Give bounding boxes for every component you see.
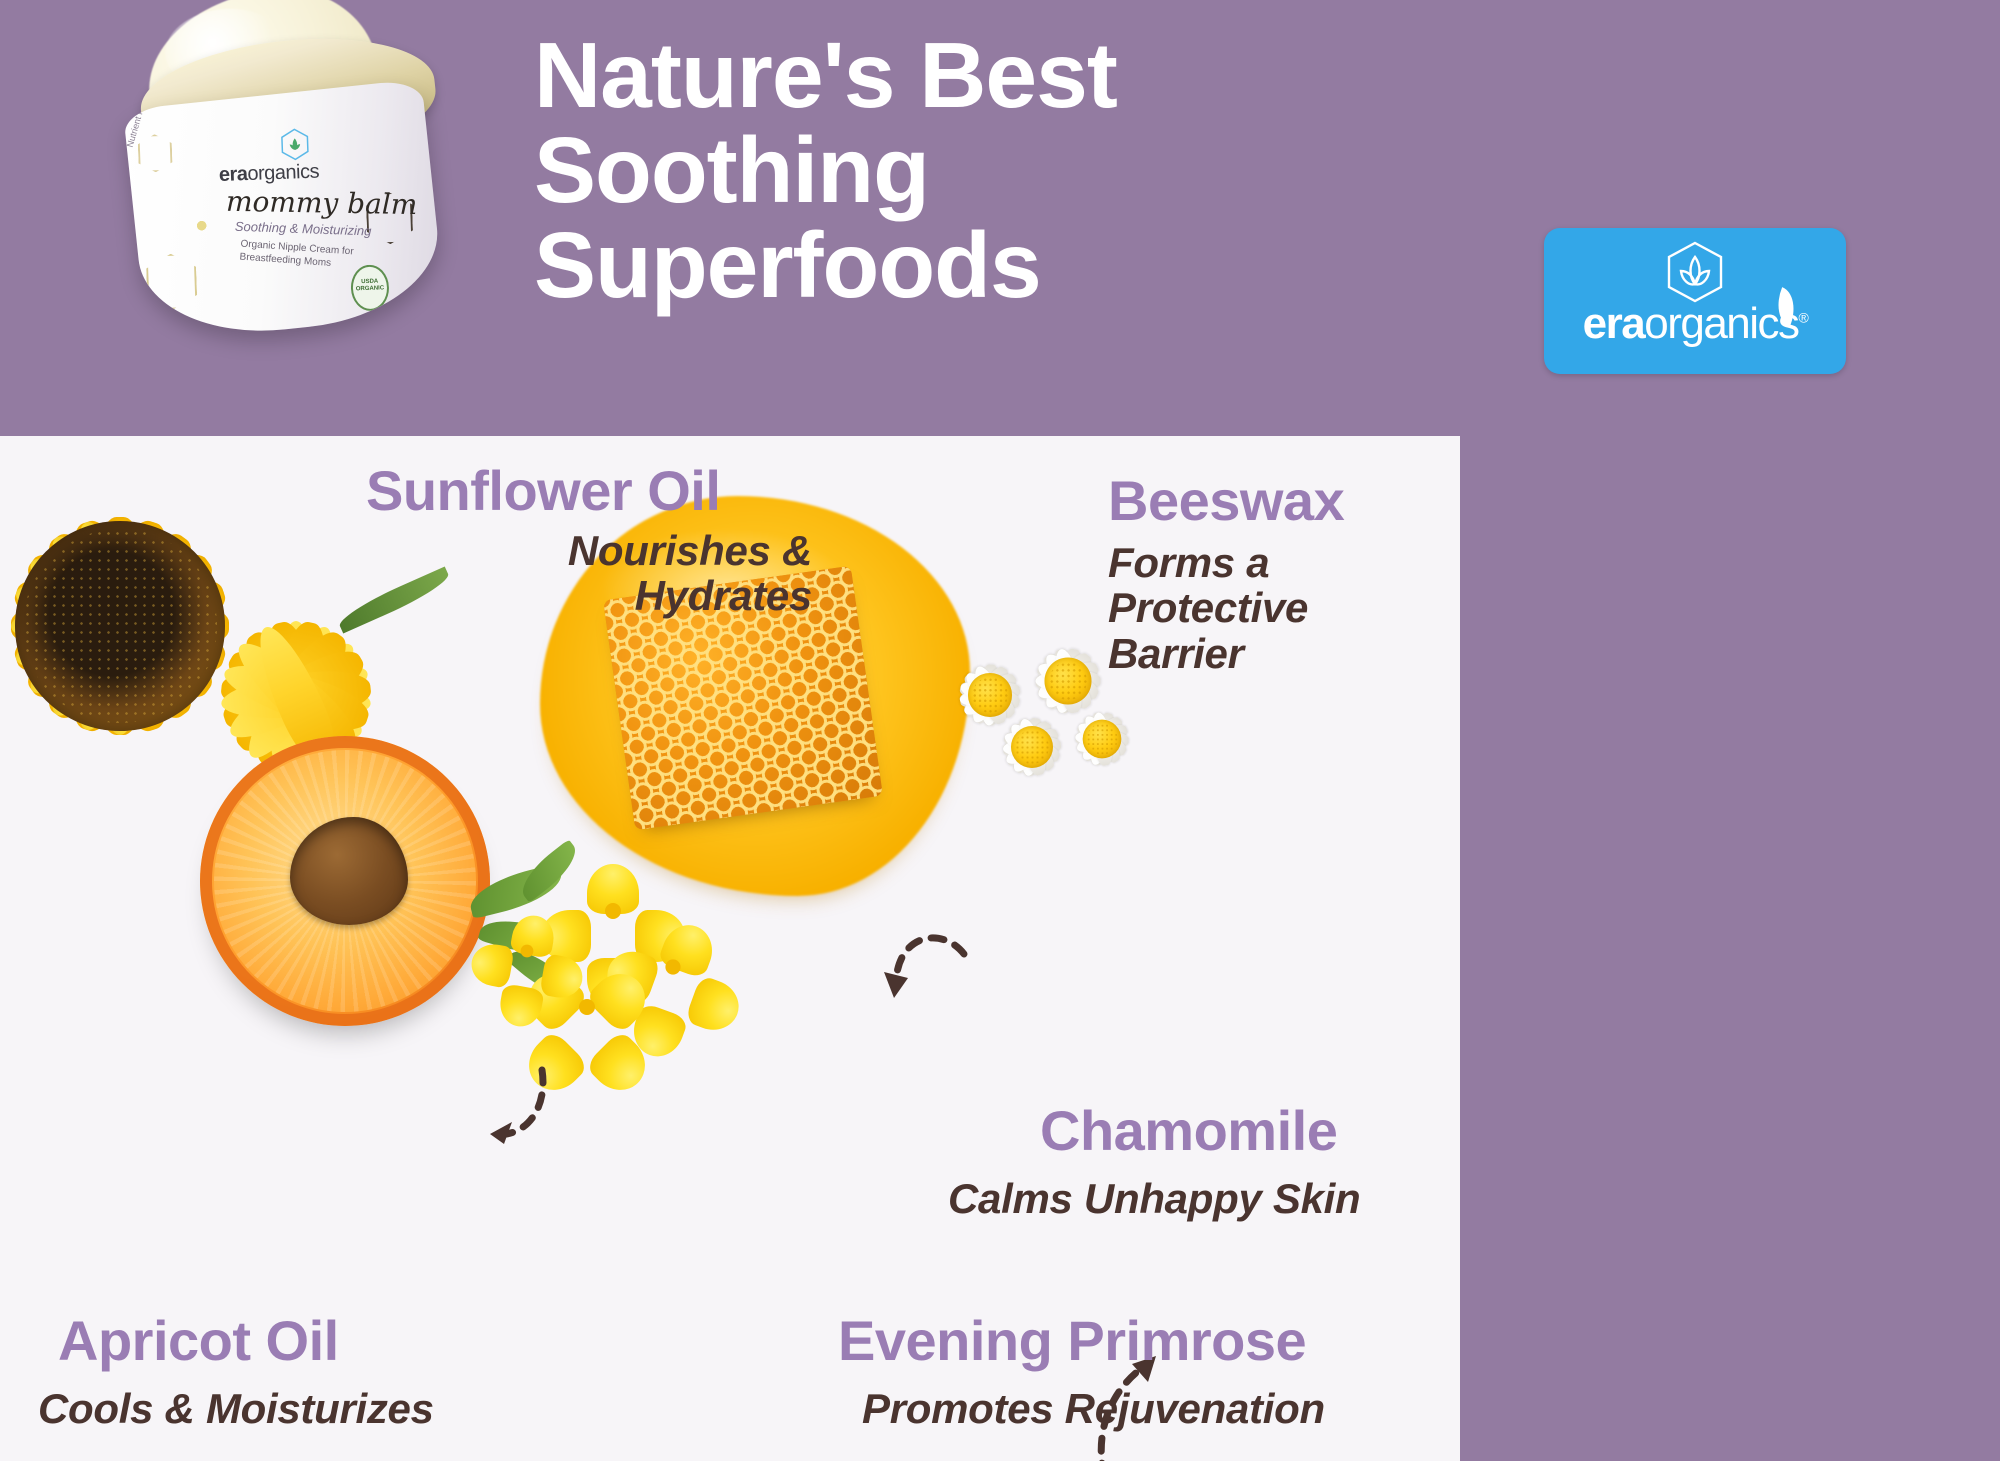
ingredient-desc-chamomile: Calms Unhappy Skin bbox=[948, 1176, 1360, 1221]
brand-word-bold: era bbox=[1583, 299, 1645, 348]
ingredient-desc-beeswax: Forms a Protective Barrier bbox=[1108, 540, 1438, 676]
ingredient-desc-sunflower-oil: Nourishes & Hydrates bbox=[534, 528, 812, 619]
ingredient-desc-line: Protective bbox=[1108, 585, 1438, 630]
curved-dashed-arrow-down-left bbox=[872, 924, 992, 1044]
jar-brand-text: eraorganics bbox=[219, 161, 320, 187]
jar-tagline: Soothing & Moisturizing bbox=[235, 219, 372, 239]
sunflower-leaf bbox=[335, 566, 453, 633]
jar-body: eraorganics mommy balm Soothing & Moistu… bbox=[123, 79, 446, 344]
brand-logo-wordmark: eraorganics® bbox=[1544, 302, 1846, 346]
ingredient-desc-line: Forms a bbox=[1108, 540, 1438, 585]
sunburst-icon bbox=[190, 214, 213, 237]
hexagon-leaf-icon bbox=[279, 127, 310, 162]
product-jar-photo: eraorganics mommy balm Soothing & Moistu… bbox=[82, 0, 478, 368]
page-title: Nature's Best Soothing Superfoods bbox=[534, 28, 1294, 313]
ingredient-desc-line: Hydrates bbox=[534, 573, 812, 618]
ingredient-desc-line: Barrier bbox=[1108, 631, 1438, 676]
ingredient-title-apricot-oil: Apricot Oil bbox=[58, 1308, 339, 1373]
ingredients-panel: Sunflower Oil Nourishes & Hydrates Beesw… bbox=[0, 436, 1460, 1461]
headline-line-2: Soothing bbox=[534, 123, 1294, 218]
usda-organic-badge: USDA ORGANIC bbox=[350, 264, 390, 311]
brand-word-light: organics bbox=[1644, 299, 1798, 348]
header-band: eraorganics mommy balm Soothing & Moistu… bbox=[0, 0, 2000, 436]
ingredient-desc-line: Cools & Moisturizes bbox=[38, 1386, 434, 1431]
hexagon-leaf-icon bbox=[1663, 240, 1727, 306]
brand-logo[interactable]: eraorganics® bbox=[1544, 228, 1846, 374]
evening-primrose-photo bbox=[468, 856, 748, 1116]
headline-line-3: Superfoods bbox=[534, 218, 1294, 313]
apricot-half-photo bbox=[200, 736, 490, 1026]
jar-brand-bold: era bbox=[219, 163, 248, 186]
chamomile-flower bbox=[1047, 684, 1157, 794]
ingredient-desc-apricot-oil: Cools & Moisturizes bbox=[38, 1386, 434, 1431]
jar-brand-light: organics bbox=[247, 161, 319, 185]
registered-mark: ® bbox=[1799, 309, 1808, 325]
jar-product-name: mommy balm bbox=[226, 185, 418, 221]
primrose-flower bbox=[483, 907, 571, 995]
jar-label: eraorganics mommy balm Soothing & Moistu… bbox=[130, 95, 437, 325]
headline-line-1: Nature's Best bbox=[534, 28, 1294, 123]
ingredient-title-beeswax: Beeswax bbox=[1108, 468, 1344, 533]
hexagon-pattern-icon bbox=[146, 253, 198, 311]
ingredient-desc-evening-primrose: Promotes Rejuvenation bbox=[862, 1386, 1325, 1431]
ingredient-title-chamomile: Chamomile bbox=[1040, 1098, 1337, 1163]
ingredient-desc-line: Nourishes & bbox=[534, 528, 812, 573]
hexagon-pattern-icon bbox=[137, 134, 172, 173]
ingredient-title-evening-primrose: Evening Primrose bbox=[838, 1308, 1306, 1373]
ingredient-desc-line: Promotes Rejuvenation bbox=[862, 1386, 1325, 1431]
ingredient-title-sunflower-oil: Sunflower Oil bbox=[366, 458, 720, 523]
ingredient-desc-line: Calms Unhappy Skin bbox=[948, 1176, 1360, 1221]
